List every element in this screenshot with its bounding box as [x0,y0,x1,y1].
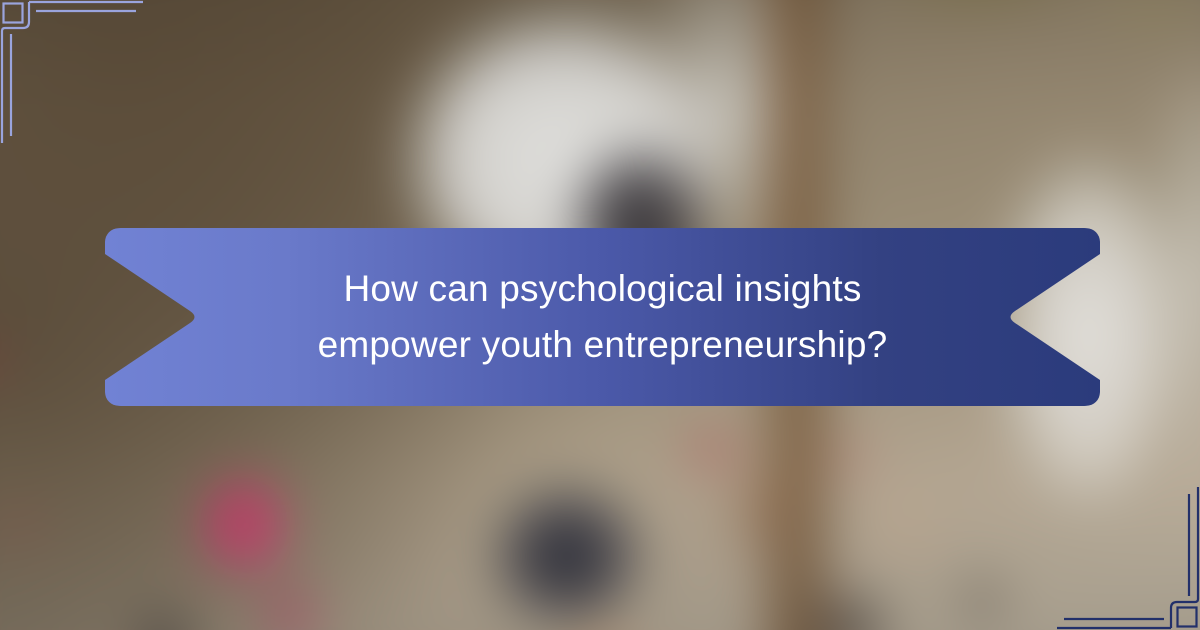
corner-bracket-top-left-icon [0,0,160,160]
banner-title: How can psychological insights empower y… [198,261,1008,373]
social-share-card: How can psychological insights empower y… [0,0,1200,630]
corner-bracket-bottom-right-icon [1040,470,1200,630]
title-ribbon-banner: How can psychological insights empower y… [105,228,1100,406]
banner-title-line-1: How can psychological insights [318,261,888,317]
banner-title-line-2: empower youth entrepreneurship? [318,317,888,373]
